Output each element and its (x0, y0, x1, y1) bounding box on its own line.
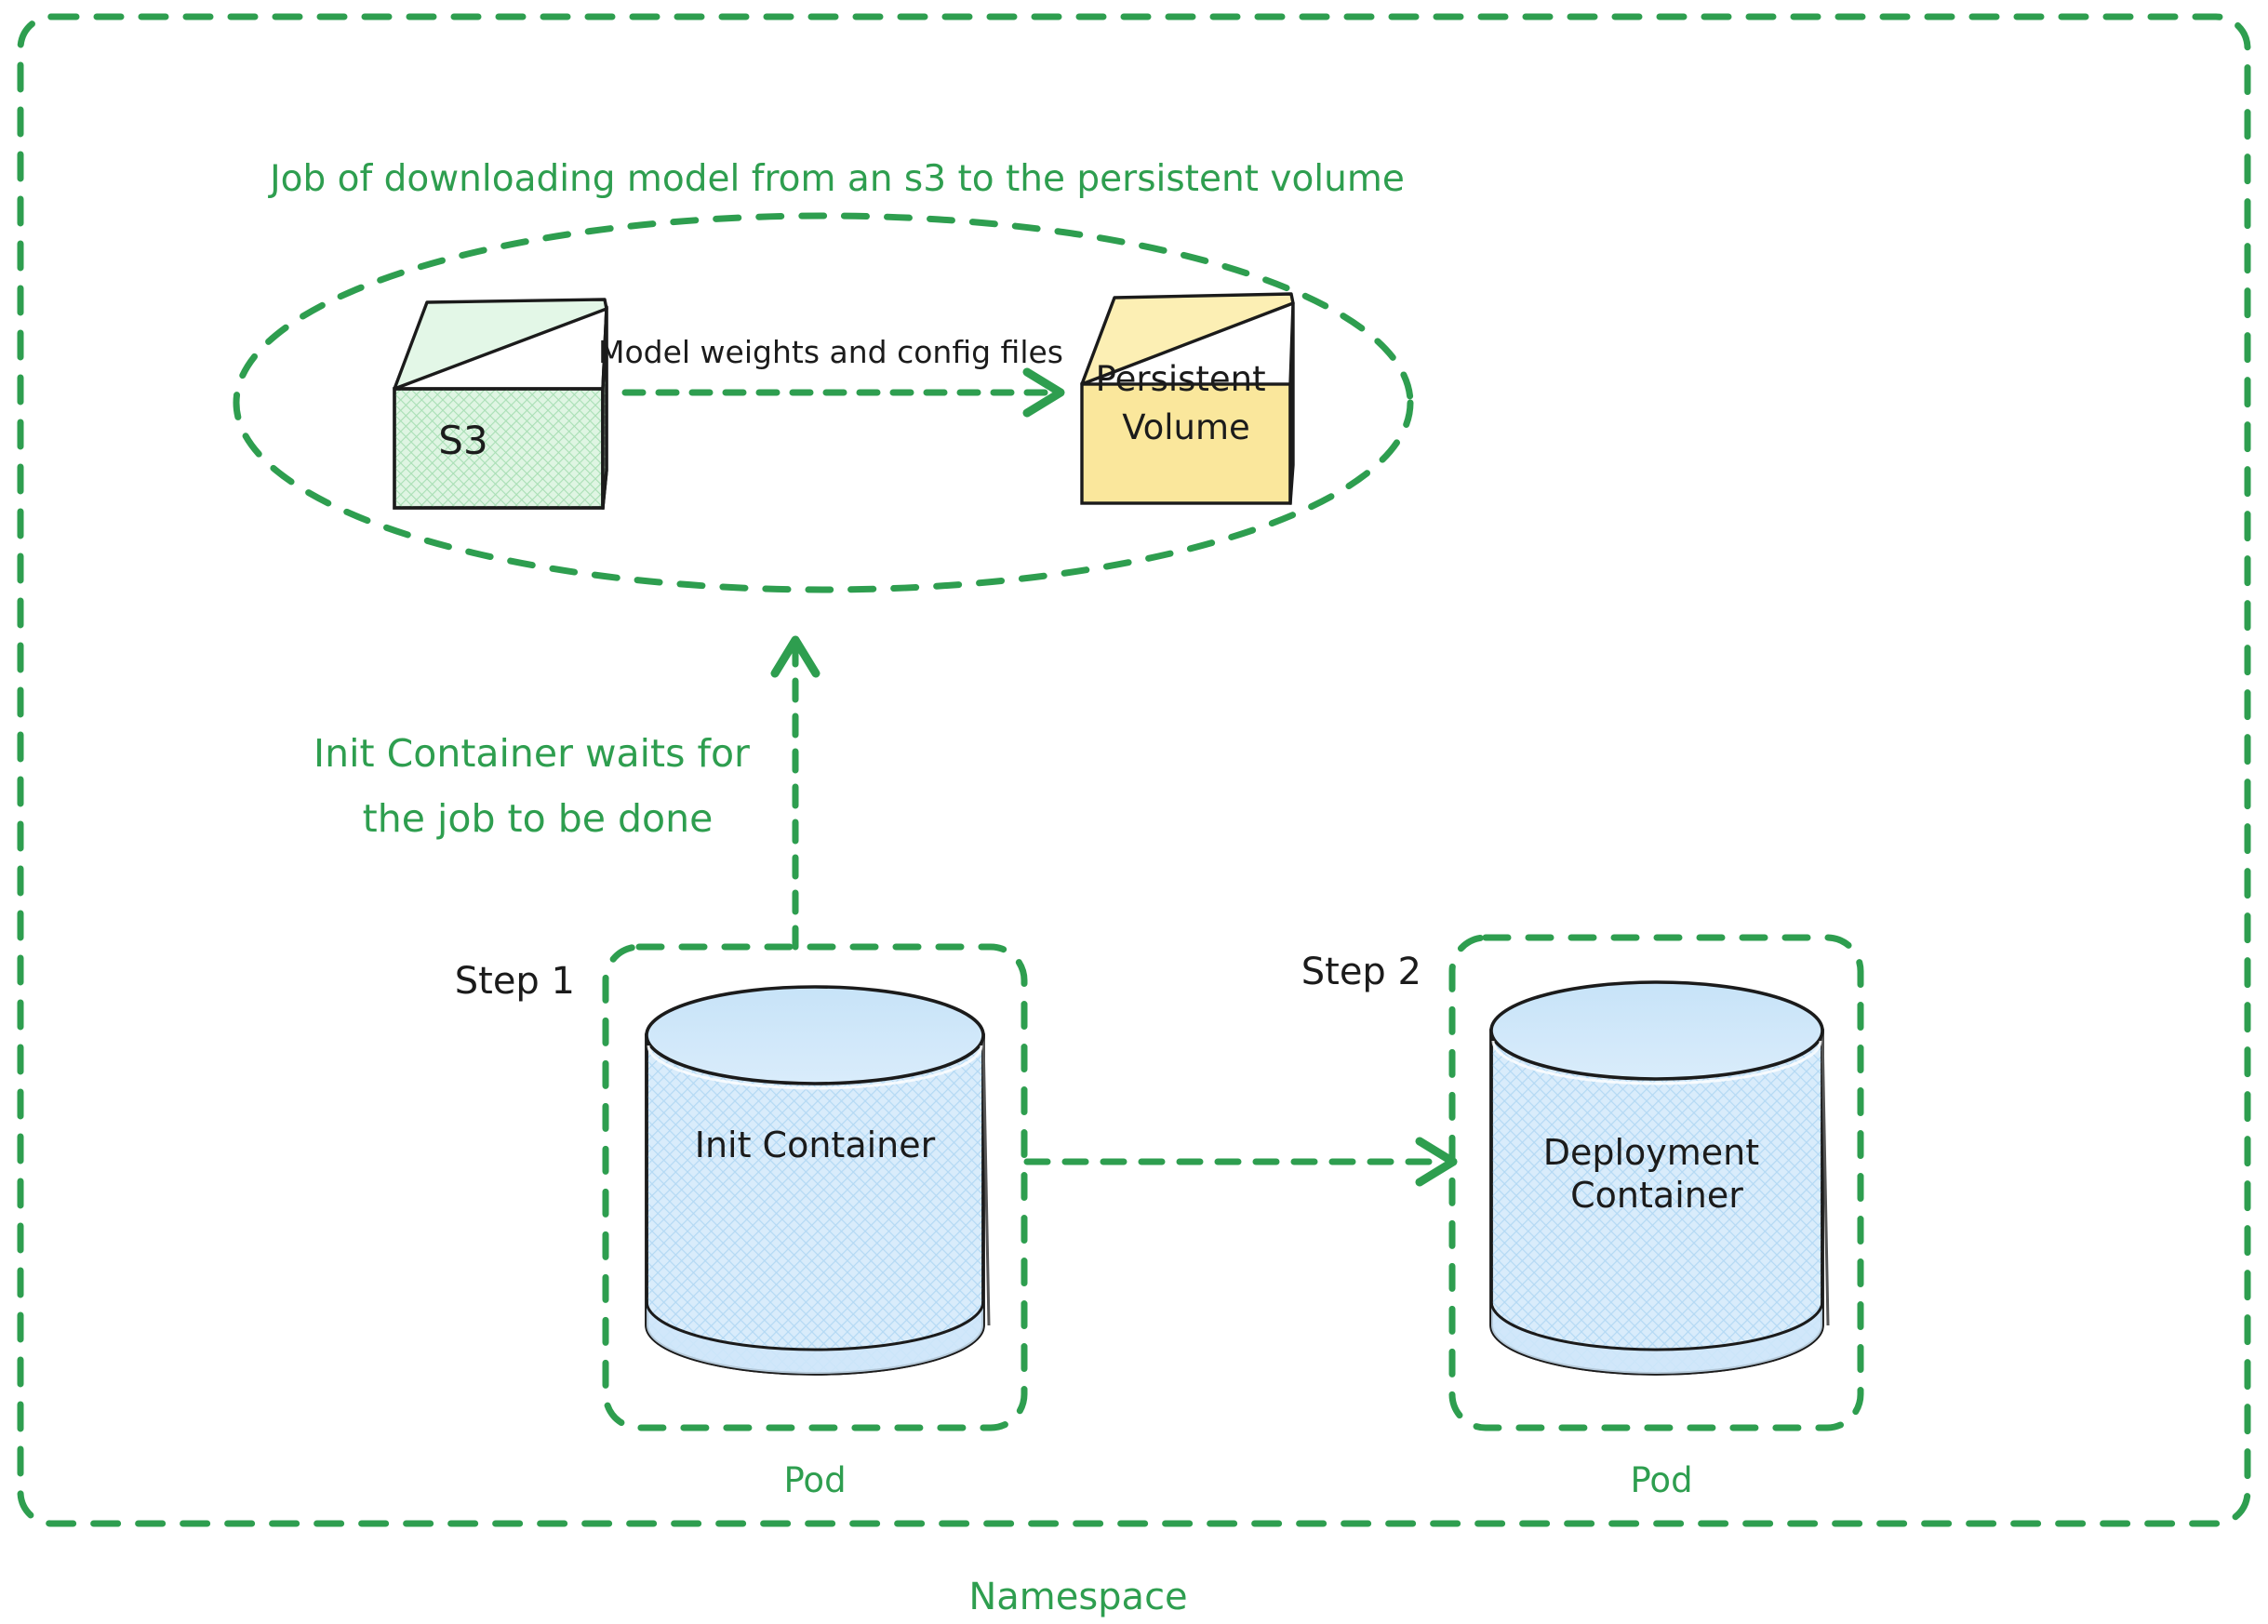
model-transfer-arrow-label: Model weights and config files (598, 334, 1063, 370)
pv-label-line2: Volume (1122, 407, 1250, 447)
pod-deployment-container: Deployment Container Step 2 Pod (1301, 938, 1861, 1500)
init-wait-arrow-label: Init Container waits for the job to be d… (314, 731, 762, 841)
model-transfer-arrow (625, 372, 1061, 413)
pv-label-line1: Persistent (1096, 359, 1266, 399)
namespace-label: Namespace (968, 1576, 1187, 1618)
s3-cube-label: S3 (438, 418, 487, 463)
step-1-label: Step 1 (455, 960, 575, 1003)
step-2-label: Step 2 (1301, 951, 1421, 993)
architecture-diagram: S3 Persistent Volume Model weights and c… (0, 0, 2268, 1624)
init-wait-arrow (775, 640, 816, 947)
init-container-label: Init Container (695, 1125, 936, 1165)
pod-1-label: Pod (783, 1460, 846, 1500)
pod-2-label: Pod (1630, 1460, 1692, 1500)
deployment-label-line2: Container (1570, 1175, 1743, 1216)
pod-to-pod-arrow (1027, 1141, 1453, 1182)
deployment-label-line1: Deployment (1543, 1132, 1759, 1173)
diagram-canvas: S3 Persistent Volume Model weights and c… (0, 0, 2268, 1624)
init-wait-label-line1: Init Container waits for (314, 731, 750, 776)
s3-cube: S3 (394, 300, 607, 510)
init-container-cylinder (647, 987, 989, 1374)
persistent-volume-cube: Persistent Volume (1082, 294, 1293, 503)
init-wait-label-line2: the job to be done (363, 796, 714, 841)
pod-init-container: Init Container Step 1 Pod (455, 947, 1024, 1500)
job-title: Job of downloading model from an s3 to t… (267, 158, 1405, 200)
